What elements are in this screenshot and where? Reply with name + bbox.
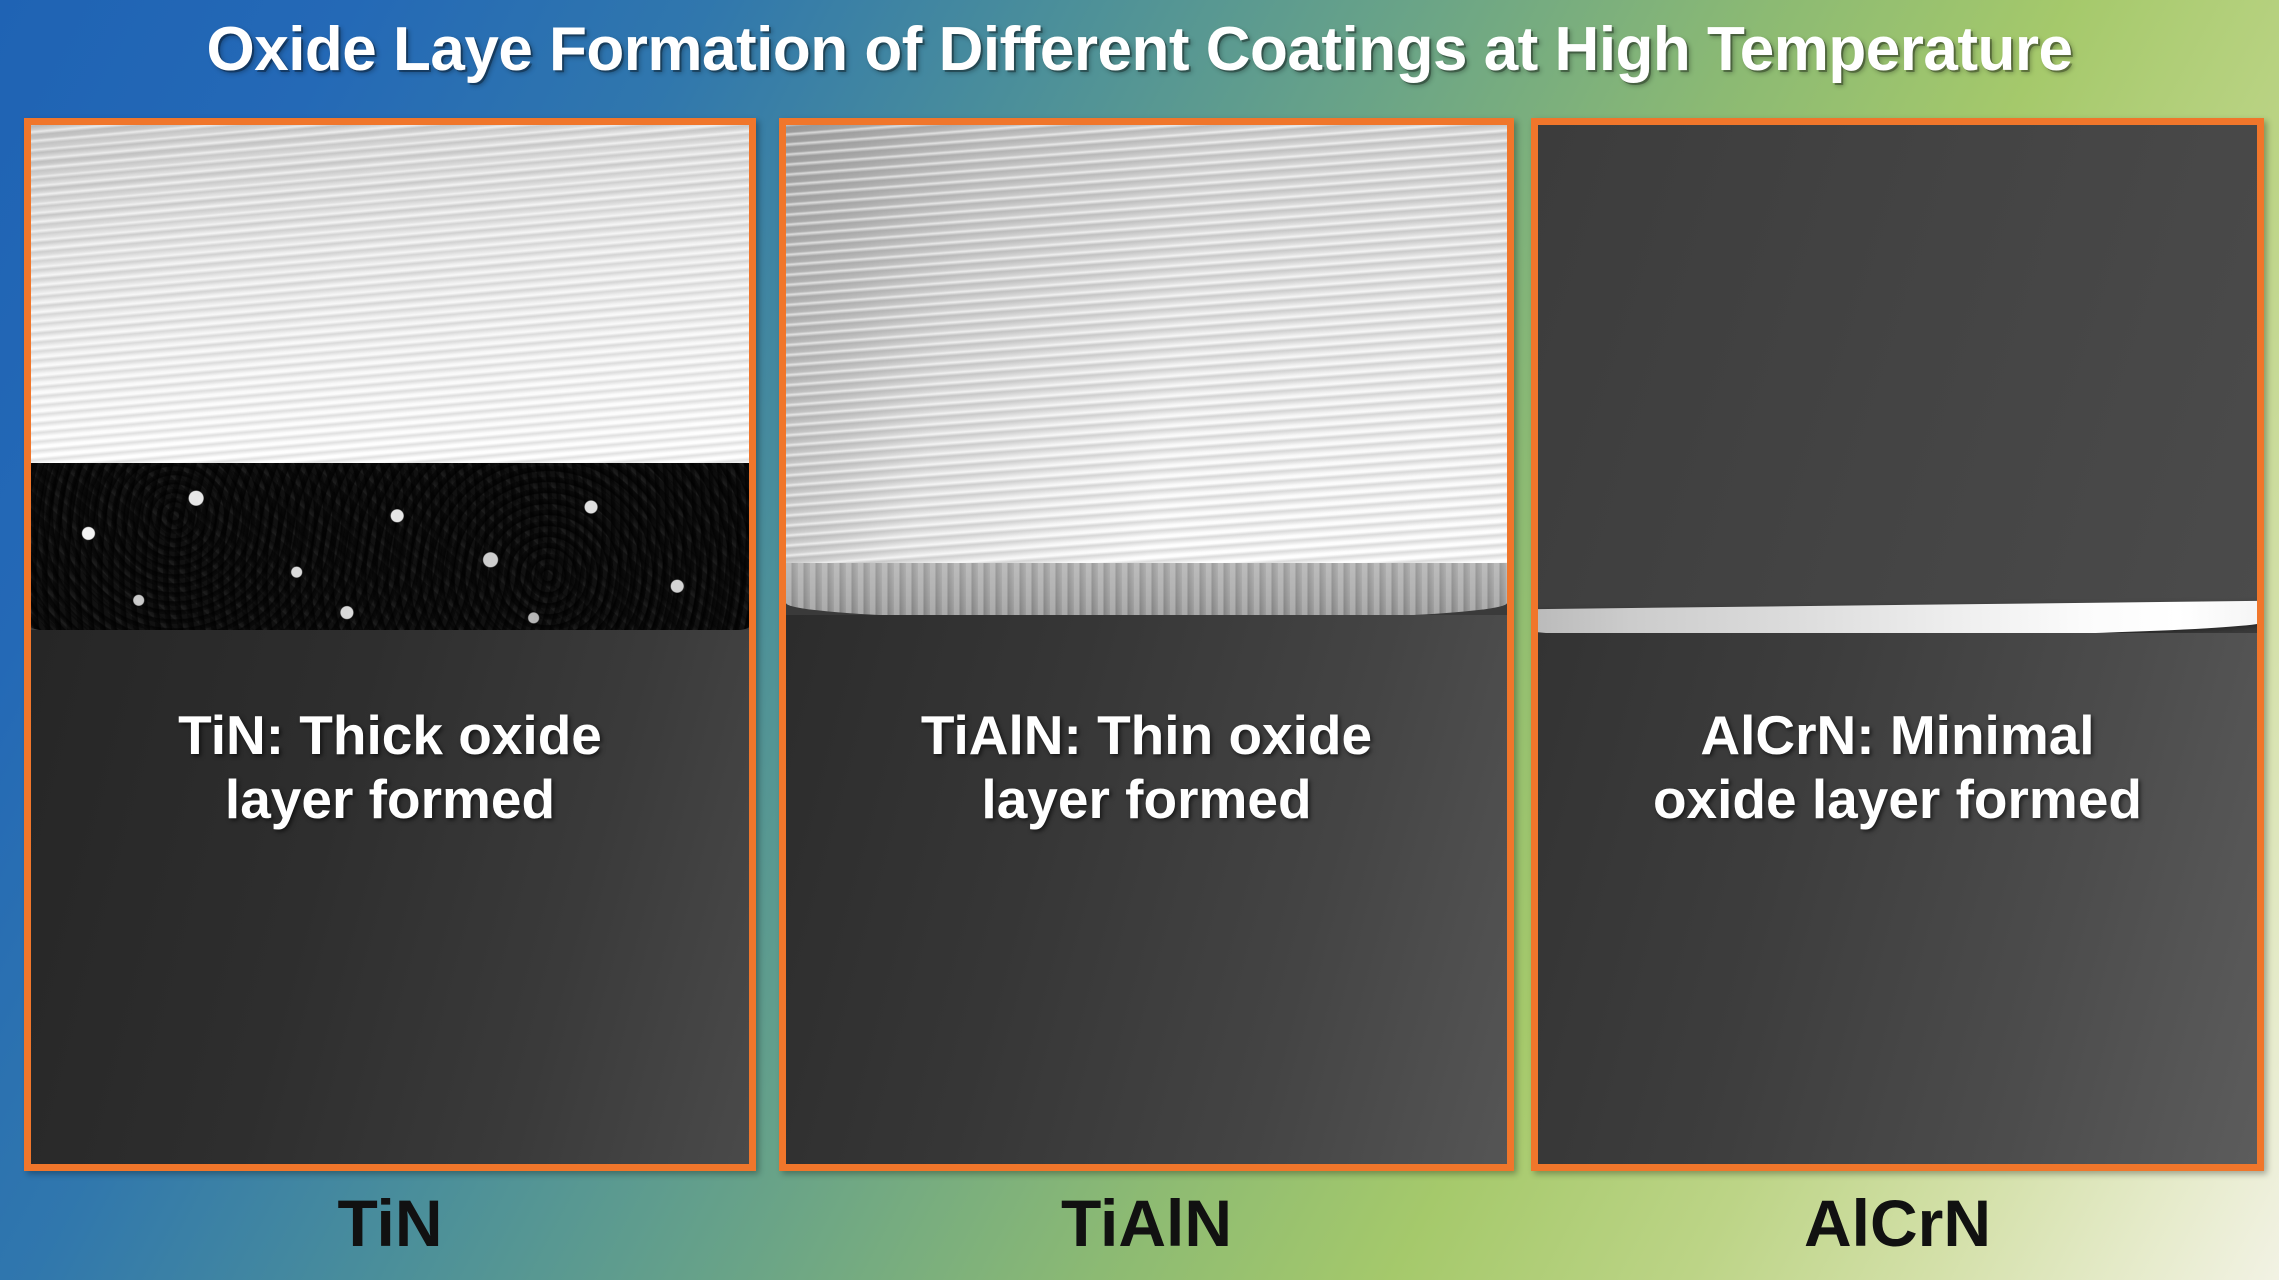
micrograph-image-tialn	[786, 125, 1507, 1164]
page-title: Oxide Laye Formation of Different Coatin…	[0, 14, 2279, 85]
panel-caption-line-1: TiAlN: Thin oxide	[800, 703, 1493, 767]
micrograph-image-tin	[31, 125, 749, 1164]
coating-top-layer-tin	[31, 125, 749, 473]
micrograph-image-alcrn	[1538, 125, 2257, 1164]
micrograph-panel-alcrn[interactable]: AlCrN: Minimal oxide layer formed	[1531, 118, 2264, 1171]
panel-caption-line-1: TiN: Thick oxide	[45, 703, 735, 767]
micrograph-panel-tin[interactable]: TiN: Thick oxide layer formed	[24, 118, 756, 1171]
coating-label-tin: TiN	[24, 1185, 756, 1261]
coating-top-layer-alcrn	[1538, 125, 2257, 621]
substrate-region-tialn	[786, 615, 1507, 1164]
coating-label-tialn: TiAlN	[779, 1185, 1514, 1261]
coating-label-alcrn: AlCrN	[1531, 1185, 2264, 1261]
panel-caption-line-2: oxide layer formed	[1552, 767, 2243, 831]
panel-caption-tialn: TiAlN: Thin oxide layer formed	[786, 703, 1507, 832]
micrograph-panel-tialn[interactable]: TiAlN: Thin oxide layer formed	[779, 118, 1514, 1171]
oxide-layer-band-tialn	[786, 563, 1507, 621]
coating-top-layer-tialn	[786, 125, 1507, 577]
panel-caption-line-2: layer formed	[45, 767, 735, 831]
panel-caption-line-1: AlCrN: Minimal	[1552, 703, 2243, 767]
panel-caption-line-2: layer formed	[800, 767, 1493, 831]
panel-caption-alcrn: AlCrN: Minimal oxide layer formed	[1538, 703, 2257, 832]
panel-caption-tin: TiN: Thick oxide layer formed	[31, 703, 749, 832]
slide-canvas: Oxide Laye Formation of Different Coatin…	[0, 0, 2279, 1280]
oxide-layer-band-tin	[31, 463, 749, 639]
